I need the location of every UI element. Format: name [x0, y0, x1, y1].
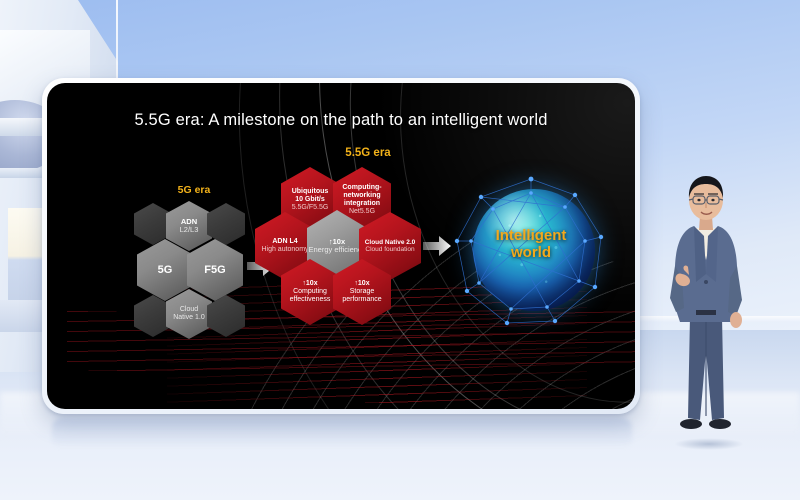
- hex-55g-cloud-native-2-line2: Cloud foundation: [365, 246, 414, 253]
- hex-55g-storage-performance-line1: ↑10x: [354, 280, 369, 288]
- hex-55g-computing-networking-line2: networking: [343, 192, 380, 200]
- hex-55g-storage-performance-line3: performance: [342, 296, 381, 304]
- hex-55g-ubiquitous-line1: Ubiquitous: [292, 188, 329, 196]
- hex-55g-computing-networking-line1: Computing-: [342, 184, 381, 192]
- presentation-stage: 5.5G era: A milestone on the path to an …: [0, 0, 800, 500]
- hex-5g-core-f5g-label: F5G: [204, 264, 225, 276]
- hex-55g-computing-effectiveness-line1: ↑10x: [302, 280, 317, 288]
- hex-5g-cloud-native-line2: Native 1.0: [173, 314, 205, 322]
- intelligent-world-globe: Intelligent world: [447, 175, 615, 333]
- era-5g-label: 5G era: [146, 184, 242, 196]
- slide-title: 5.5G era: A milestone on the path to an …: [47, 111, 635, 130]
- intelligent-world-line1: Intelligent: [496, 227, 567, 244]
- era-55g-label: 5.5G era: [308, 147, 428, 159]
- slide-panel: 5.5G era: A milestone on the path to an …: [47, 83, 635, 409]
- slide-panel-frame: 5.5G era: A milestone on the path to an …: [42, 78, 640, 414]
- hex-55g-computing-effectiveness-line2: Computing: [293, 288, 327, 296]
- hex-55g-adn-l4-line1: ADN L4: [272, 238, 297, 246]
- hex-5g-cloud-native-line1: Cloud: [180, 306, 198, 314]
- hex-55g-adn-l4-line2: High autonomy: [261, 246, 308, 254]
- hex-5g-adn-line2: L2/L3: [180, 226, 199, 234]
- intelligent-world-line2: world: [511, 244, 551, 261]
- hex-55g-center-line2: Energy efficiency: [309, 246, 366, 254]
- hex-55g-storage-performance-line2: Storage: [350, 288, 375, 296]
- presenter-figure: [660, 170, 752, 452]
- hex-55g-computing-effectiveness-line3: effectiveness: [290, 296, 331, 304]
- hex-5g-core-5g-label: 5G: [158, 264, 173, 276]
- hex-55g-cloud-native-2-line1: Cloud Native 2.0: [365, 239, 416, 246]
- panel-floor-reflection: [52, 418, 632, 448]
- hex-55g-computing-networking-line4: Net5.5G: [349, 208, 375, 216]
- hex-55g-computing-networking-line3: integration: [344, 200, 380, 208]
- intelligent-world-label: Intelligent world: [447, 227, 615, 262]
- hex-55g-ubiquitous-line3: 5.5G/F5.5G: [292, 204, 329, 212]
- hex-55g-ubiquitous-line2: 10 Gbit/s: [295, 196, 325, 204]
